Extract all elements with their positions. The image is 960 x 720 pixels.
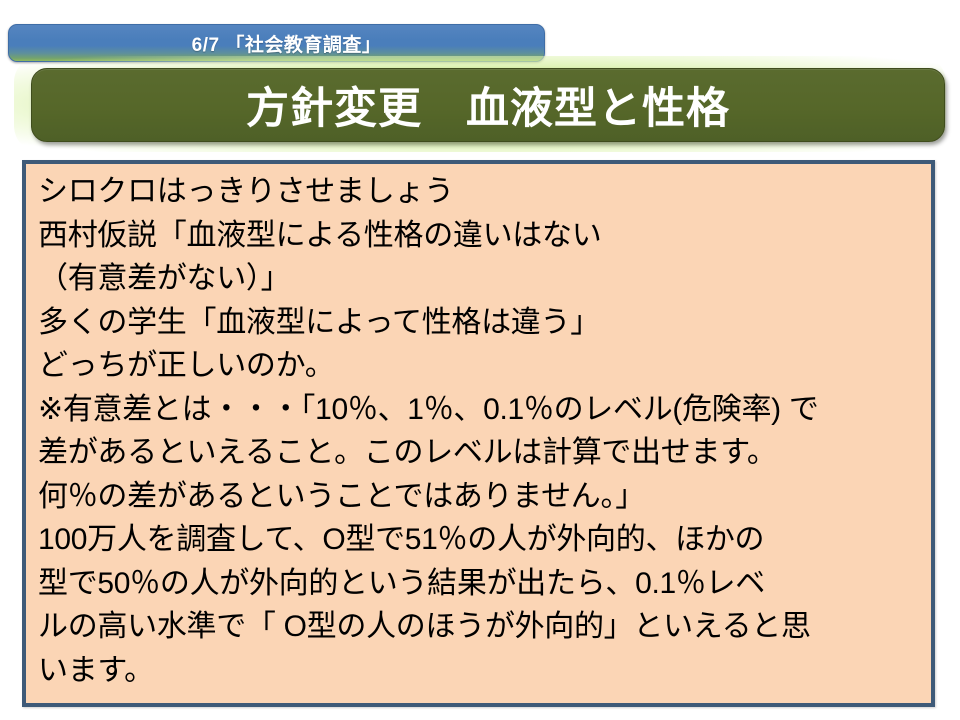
body-line: 100万人を調査して、O型で51％の人が外向的、ほかの	[38, 518, 925, 562]
content-box: シロクロはっきりさせましょう西村仮説「血液型による性格の違いはない（有意差がない…	[22, 160, 935, 707]
body-line: （有意差がない）」	[38, 257, 925, 301]
slide-canvas: 6/7 「社会教育調査」 方針変更 血液型と性格 シロクロはっきりさせましょう西…	[0, 0, 960, 720]
body-line: シロクロはっきりさせましょう	[38, 170, 925, 214]
page-title: 方針変更 血液型と性格	[32, 69, 944, 141]
body-line: 多くの学生「血液型によって性格は違う」	[38, 301, 925, 345]
body-line: います。	[38, 649, 925, 693]
body-line: どっちが正しいのか。	[38, 344, 925, 388]
body-line: ルの高い水準で「 O型の人のほうが外向的」といえると思	[38, 605, 925, 649]
body-line: 何％の差があるということではありません。」	[38, 475, 925, 519]
title-plaque: 方針変更 血液型と性格	[31, 68, 945, 142]
body-line: 差があるといえること。このレベルは計算で出せます。	[38, 431, 925, 475]
body-text: シロクロはっきりさせましょう西村仮説「血液型による性格の違いはない（有意差がない…	[38, 170, 925, 692]
body-line: ※有意差とは・・・「10％、1％、0.1％のレベル(危険率) で	[38, 388, 925, 432]
body-line: 西村仮説「血液型による性格の違いはない	[38, 214, 925, 258]
body-line: 型で50％の人が外向的という結果が出たら、0.1％レベ	[38, 562, 925, 606]
